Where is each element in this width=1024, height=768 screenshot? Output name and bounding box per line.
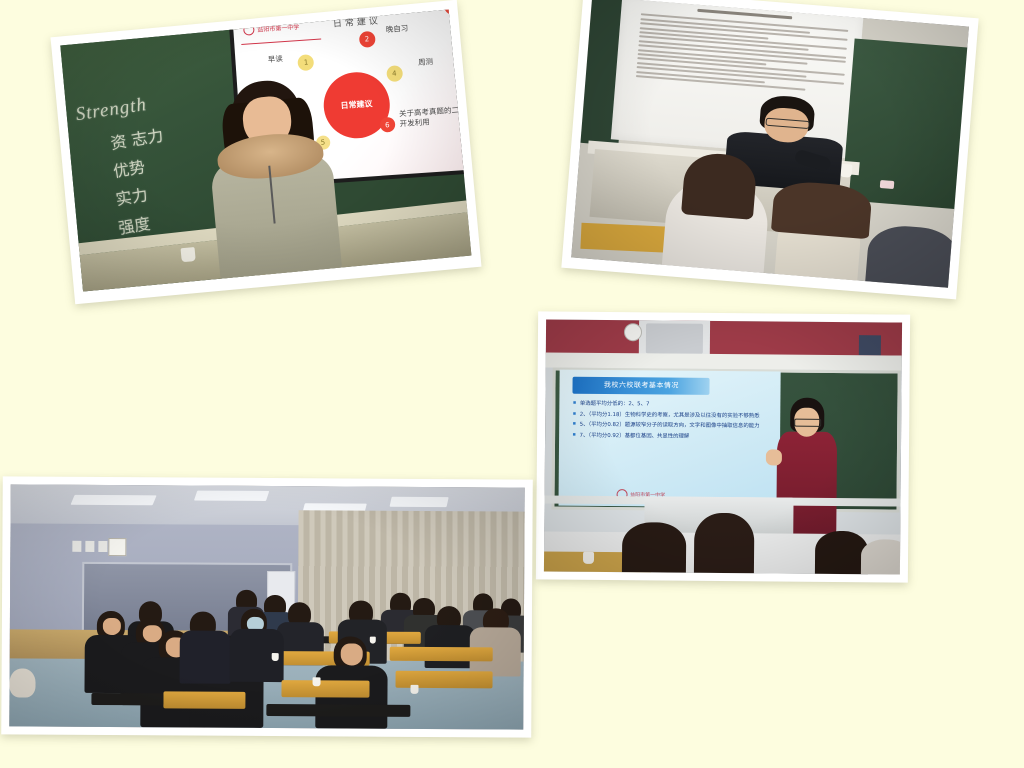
slide-bubble-6: 6: [379, 117, 395, 133]
slide-logo-rule: [241, 39, 321, 46]
paper-cup: [272, 653, 279, 661]
wall-panel: [85, 541, 94, 552]
chalk-english-word: Strength: [74, 94, 148, 126]
paper-cup: [370, 637, 376, 644]
slide-bullet: 5、（平均分0.82）题源较窄分子的读取方向，文字和图像中抽取信息的能力: [573, 421, 770, 432]
ceiling-light: [390, 496, 449, 506]
attendee-head: [9, 668, 35, 697]
slide-bullet-list: 单选题平均分低的：2、5、7 2、（平均分1.18）生物科学史的考察，尤其是涉及…: [573, 400, 770, 444]
chalk-line-2: 优势: [111, 153, 146, 182]
photo-image-audience-room: [9, 484, 524, 729]
audience-member: [693, 512, 754, 573]
audience-member: [622, 522, 687, 573]
desk: [282, 680, 369, 697]
lantern-decoration-icon: [444, 10, 467, 16]
slide-bubble-4: 4: [386, 65, 403, 82]
desk-rail: [266, 704, 410, 717]
photo-image-teacher-red-slide: Strength 资 志力 优势 实力 强度 浓度 强度 益阳市第一中学: [60, 10, 471, 292]
paper-cup: [313, 677, 321, 686]
audience-member: [861, 539, 902, 575]
wall-clock-icon: [108, 538, 126, 556]
logo-text: 益阳市第一中学: [257, 22, 300, 34]
attendee-body: [179, 631, 231, 685]
slide-bubble-1: 1: [297, 54, 314, 71]
photo-frame-female-teacher-blue-slide[interactable]: 我校六校联考基本情况 单选题平均分低的：2、5、7 2、（平均分1.18）生物科…: [536, 311, 910, 582]
paper-cup: [410, 685, 418, 694]
attendee-face: [340, 644, 363, 666]
slide-bullet: 2、（平均分1.18）生物科学史的考察，尤其是涉及以往没有的实验不够熟悉: [573, 410, 770, 421]
slide-label-one: 早读: [267, 53, 283, 65]
paper-cup: [583, 552, 594, 564]
slide-bullet: 单选题平均分低的：2、5、7: [573, 400, 770, 411]
chalk-line-1: 资 志力: [108, 122, 164, 154]
photo-image-female-teacher-blue-slide: 我校六校联考基本情况 单选题平均分低的：2、5、7 2、（平均分1.18）生物科…: [544, 319, 902, 574]
ceiling-light: [194, 490, 269, 500]
chalk-line-3: 实力: [114, 182, 149, 211]
slide-label-four: 周测: [417, 57, 433, 69]
slide-title: 我校六校联考基本情况: [573, 377, 710, 395]
slide-bubble-2: 2: [358, 32, 375, 49]
slide-bullet: 7、（平均分0.92）基都位基因、共显性的理解: [573, 431, 770, 442]
chalkboard-right: [841, 38, 967, 209]
ceiling-light: [70, 494, 156, 504]
logo-mark-icon: [243, 24, 255, 36]
photo-frame-teacher-red-slide[interactable]: Strength 资 志力 优势 实力 强度 浓度 强度 益阳市第一中学: [50, 0, 481, 304]
audience-desk: [580, 223, 672, 253]
slide-blue-exam-summary: 我校六校联考基本情况 单选题平均分低的：2、5、7 2、（平均分1.18）生物科…: [559, 370, 781, 508]
desk-object: [880, 180, 895, 189]
slide-title: 日常建议: [332, 14, 381, 30]
photo-frame-audience-room[interactable]: [1, 476, 533, 737]
wall-panel: [99, 541, 108, 552]
eyeglasses-icon: [794, 418, 822, 427]
audience-member: [865, 224, 960, 288]
paper-cup: [181, 247, 196, 262]
wall-panel: [72, 540, 81, 551]
photo-image-male-teacher-lectern: [571, 0, 969, 288]
slide-label-two: 晚自习: [385, 22, 408, 35]
wall-clock-icon: [624, 323, 642, 341]
attendee-face: [102, 618, 121, 635]
desk-rail: [92, 693, 164, 706]
presenter-female: [197, 75, 347, 279]
ceiling-projector: [645, 323, 702, 354]
photo-collage: Strength 资 志力 优势 实力 强度 浓度 强度 益阳市第一中学: [0, 0, 1024, 768]
photo-frame-male-teacher-lectern[interactable]: [561, 0, 978, 299]
desk: [390, 646, 493, 661]
slide-school-logo: 益阳市第一中学: [243, 21, 300, 36]
desk: [164, 691, 246, 708]
speaker-box: [859, 335, 881, 355]
slide-label-six: 关于高考真题的二次开发利用: [398, 105, 471, 130]
